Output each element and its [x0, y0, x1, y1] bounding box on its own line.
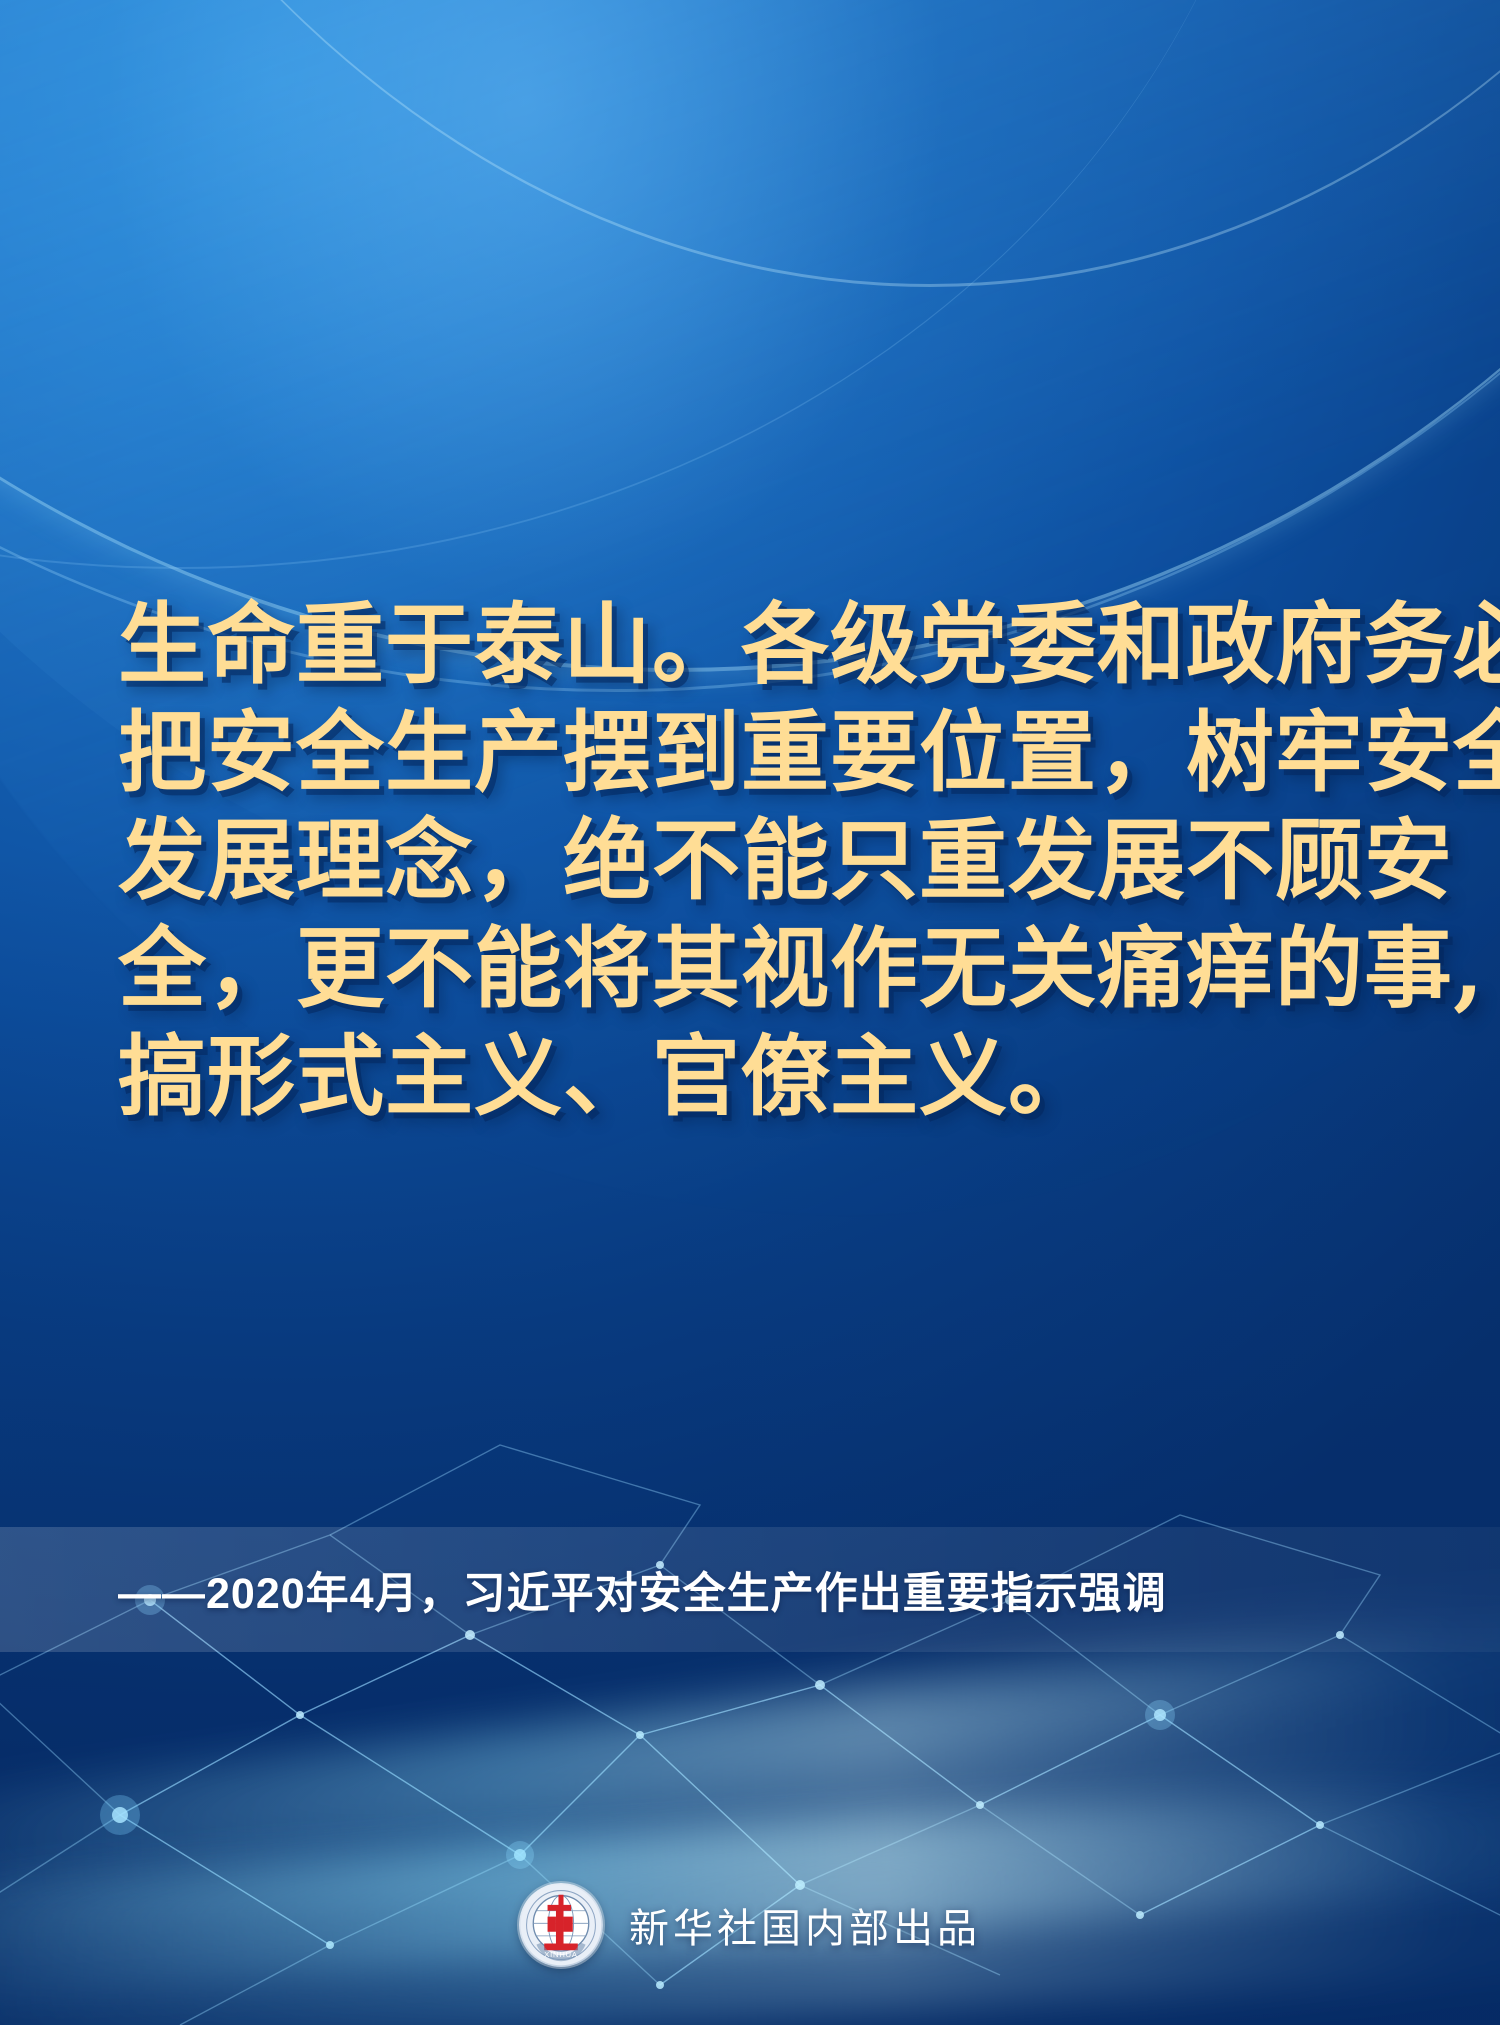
quote-line-4: 全，更不能将其视作无关痛痒的事,	[118, 914, 1398, 1022]
svg-text:XINHUA: XINHUA	[544, 1950, 578, 1959]
footer: XINHUA 新华社国内部出品	[0, 1883, 1500, 1967]
quote-line-2: 把安全生产摆到重要位置，树牢安全	[118, 698, 1398, 806]
quote-line-3: 发展理念，绝不能只重发展不顾安	[118, 806, 1398, 914]
poster-canvas: 生命重于泰山。各级党委和政府务必 把安全生产摆到重要位置，树牢安全 发展理念，绝…	[0, 0, 1500, 2025]
attribution-text: ——2020年4月，习近平对安全生产作出重要指示强调	[118, 1559, 1167, 1621]
quote-line-1: 生命重于泰山。各级党委和政府务必	[118, 590, 1398, 698]
quote-line-5: 搞形式主义、官僚主义。	[118, 1022, 1398, 1130]
footer-text: 新华社国内部出品	[629, 1896, 981, 1954]
xinhua-logo-icon: XINHUA	[519, 1883, 603, 1967]
quote-block: 生命重于泰山。各级党委和政府务必 把安全生产摆到重要位置，树牢安全 发展理念，绝…	[118, 590, 1398, 1130]
attribution-band: ——2020年4月，习近平对安全生产作出重要指示强调	[0, 1527, 1500, 1652]
xinhua-logo-graphic: XINHUA	[519, 1883, 603, 1967]
